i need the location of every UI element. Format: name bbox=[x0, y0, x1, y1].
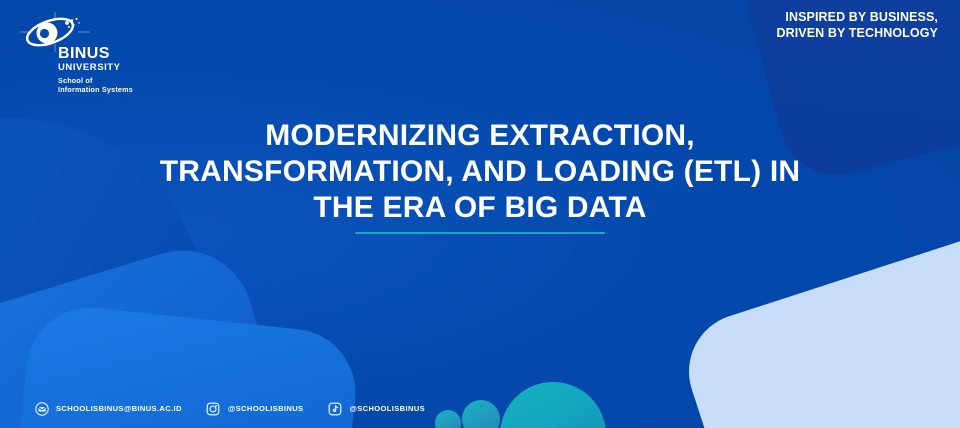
logo-faculty: School of Information Systems bbox=[58, 76, 133, 94]
tagline-line-2: DRIVEN BY TECHNOLOGY bbox=[776, 26, 938, 42]
title-line-2: TRANSFORMATION, AND LOADING (ETL) IN bbox=[160, 155, 800, 188]
footer-label-email: SCHOOLISBINUS@BINUS.AC.ID bbox=[56, 404, 182, 413]
brand-tagline: INSPIRED BY BUSINESS, DRIVEN BY TECHNOLO… bbox=[776, 10, 938, 41]
binus-logo: BINUS UNIVERSITY School of Information S… bbox=[18, 12, 138, 82]
email-icon bbox=[34, 401, 49, 416]
footer-contact-bar: SCHOOLISBINUS@BINUS.AC.ID @SCHOOLISBINUS bbox=[34, 401, 425, 416]
title-divider bbox=[355, 232, 605, 234]
logo-faculty-line-2: Information Systems bbox=[58, 85, 133, 94]
title-line-1: MODERNIZING EXTRACTION, bbox=[265, 119, 695, 152]
logo-wordmark: BINUS UNIVERSITY School of Information S… bbox=[58, 46, 133, 94]
footer-item-email[interactable]: SCHOOLISBINUS@BINUS.AC.ID bbox=[34, 401, 182, 416]
presentation-slide: BINUS UNIVERSITY School of Information S… bbox=[0, 0, 960, 428]
tagline-line-1: INSPIRED BY BUSINESS, bbox=[776, 10, 938, 26]
title-line-3: THE ERA OF BIG DATA bbox=[313, 191, 646, 224]
footer-label-instagram: @SCHOOLISBINUS bbox=[228, 404, 304, 413]
page-title: MODERNIZING EXTRACTION, TRANSFORMATION, … bbox=[110, 118, 850, 226]
logo-brand-name: BINUS bbox=[58, 46, 133, 62]
title-block: MODERNIZING EXTRACTION, TRANSFORMATION, … bbox=[0, 118, 960, 226]
logo-institution: UNIVERSITY bbox=[58, 63, 133, 73]
footer-item-tiktok[interactable]: @SCHOOLISBINUS bbox=[327, 401, 425, 416]
logo-faculty-line-1: School of bbox=[58, 76, 133, 85]
footer-label-tiktok: @SCHOOLISBINUS bbox=[349, 404, 425, 413]
instagram-icon bbox=[206, 401, 221, 416]
tiktok-icon bbox=[327, 401, 342, 416]
footer-item-instagram[interactable]: @SCHOOLISBINUS bbox=[206, 401, 304, 416]
